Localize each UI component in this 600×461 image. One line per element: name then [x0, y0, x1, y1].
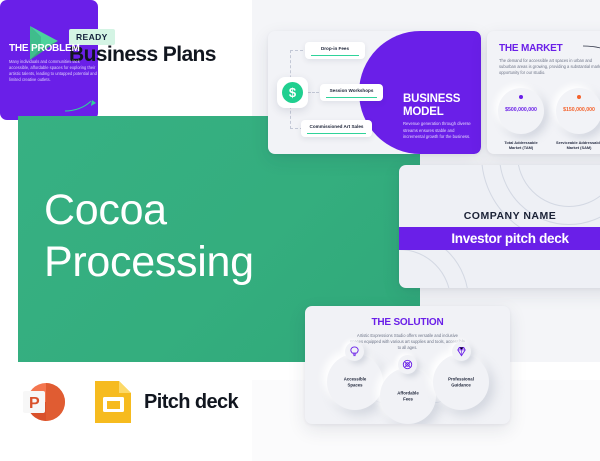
solution-body: Artistic Expressions Studio offers versa…: [350, 333, 465, 351]
solution-node-label: Professional Guidance: [437, 376, 485, 387]
metric-dot-icon: [577, 95, 581, 99]
lightbulb-icon: [345, 342, 364, 361]
solution-node-label: Accessible Spaces: [331, 376, 379, 387]
powerpoint-icon: P: [20, 378, 68, 426]
business-model-body: Revenue generation through diverse strea…: [403, 121, 473, 141]
business-model-heading: BUSINESS MODEL: [403, 93, 475, 119]
business-model-item: Drop-in Fees: [305, 42, 365, 59]
slide-company-name[interactable]: COMPANY NAME Investor pitch deck: [399, 165, 600, 288]
slide-the-solution[interactable]: THE SOLUTION Artistic Expressions Studio…: [305, 306, 510, 424]
page-title: Cocoa Processing: [44, 184, 374, 288]
business-model-item: Commissioned Art Sales: [301, 120, 372, 137]
solution-node: Affordable Fees: [380, 368, 436, 424]
diamond-icon: [452, 342, 471, 361]
solution-node-label: Affordable Fees: [384, 390, 432, 401]
dollar-icon: $: [277, 77, 308, 108]
poster-canvas: Cocoa Processing READY Business Plans BU…: [0, 0, 600, 461]
business-model-item-label: Commissioned Art Sales: [301, 124, 372, 129]
curved-arrow-icon: [581, 43, 600, 69]
solution-node: Professional Guidance: [433, 354, 489, 410]
market-metric-value: $500,000,000: [498, 107, 544, 113]
footer-label: Pitch deck: [144, 391, 238, 414]
target-icon: [398, 355, 417, 374]
market-metric-caption: Total Addressable Market (TAM): [495, 140, 547, 151]
market-heading: THE MARKET: [499, 43, 563, 54]
company-subtitle: Investor pitch deck: [399, 231, 600, 246]
curved-arrow-icon: [64, 99, 96, 115]
market-metric-sam: $150,000,000: [556, 88, 600, 134]
problem-body: Many individuals and communities lack ac…: [9, 59, 97, 83]
business-model-item-label: Session Workshops: [320, 88, 383, 93]
company-name-label: COMPANY NAME: [399, 210, 600, 222]
solution-heading: THE SOLUTION: [305, 317, 510, 328]
business-model-item-label: Drop-in Fees: [305, 46, 365, 51]
market-metric-tam: $500,000,000: [498, 88, 544, 134]
metric-dot-icon: [519, 95, 523, 99]
investor-pitch-deck-bar: Investor pitch deck: [399, 227, 600, 250]
google-slides-icon: [92, 378, 136, 426]
svg-text:P: P: [29, 395, 40, 412]
business-model-connector-mid: [308, 92, 319, 93]
slide-the-market[interactable]: THE MARKET The demand for accessible art…: [487, 31, 600, 154]
market-metric-caption: Serviceable Addressable Market (SAM): [553, 140, 600, 151]
solution-node: Accessible Spaces: [327, 354, 383, 410]
business-model-item: Session Workshops: [320, 84, 383, 101]
slide-the-problem[interactable]: THE PROBLEM Many individuals and communi…: [0, 0, 98, 120]
problem-heading: THE PROBLEM: [9, 43, 80, 54]
market-metric-value: $150,000,000: [556, 107, 600, 113]
